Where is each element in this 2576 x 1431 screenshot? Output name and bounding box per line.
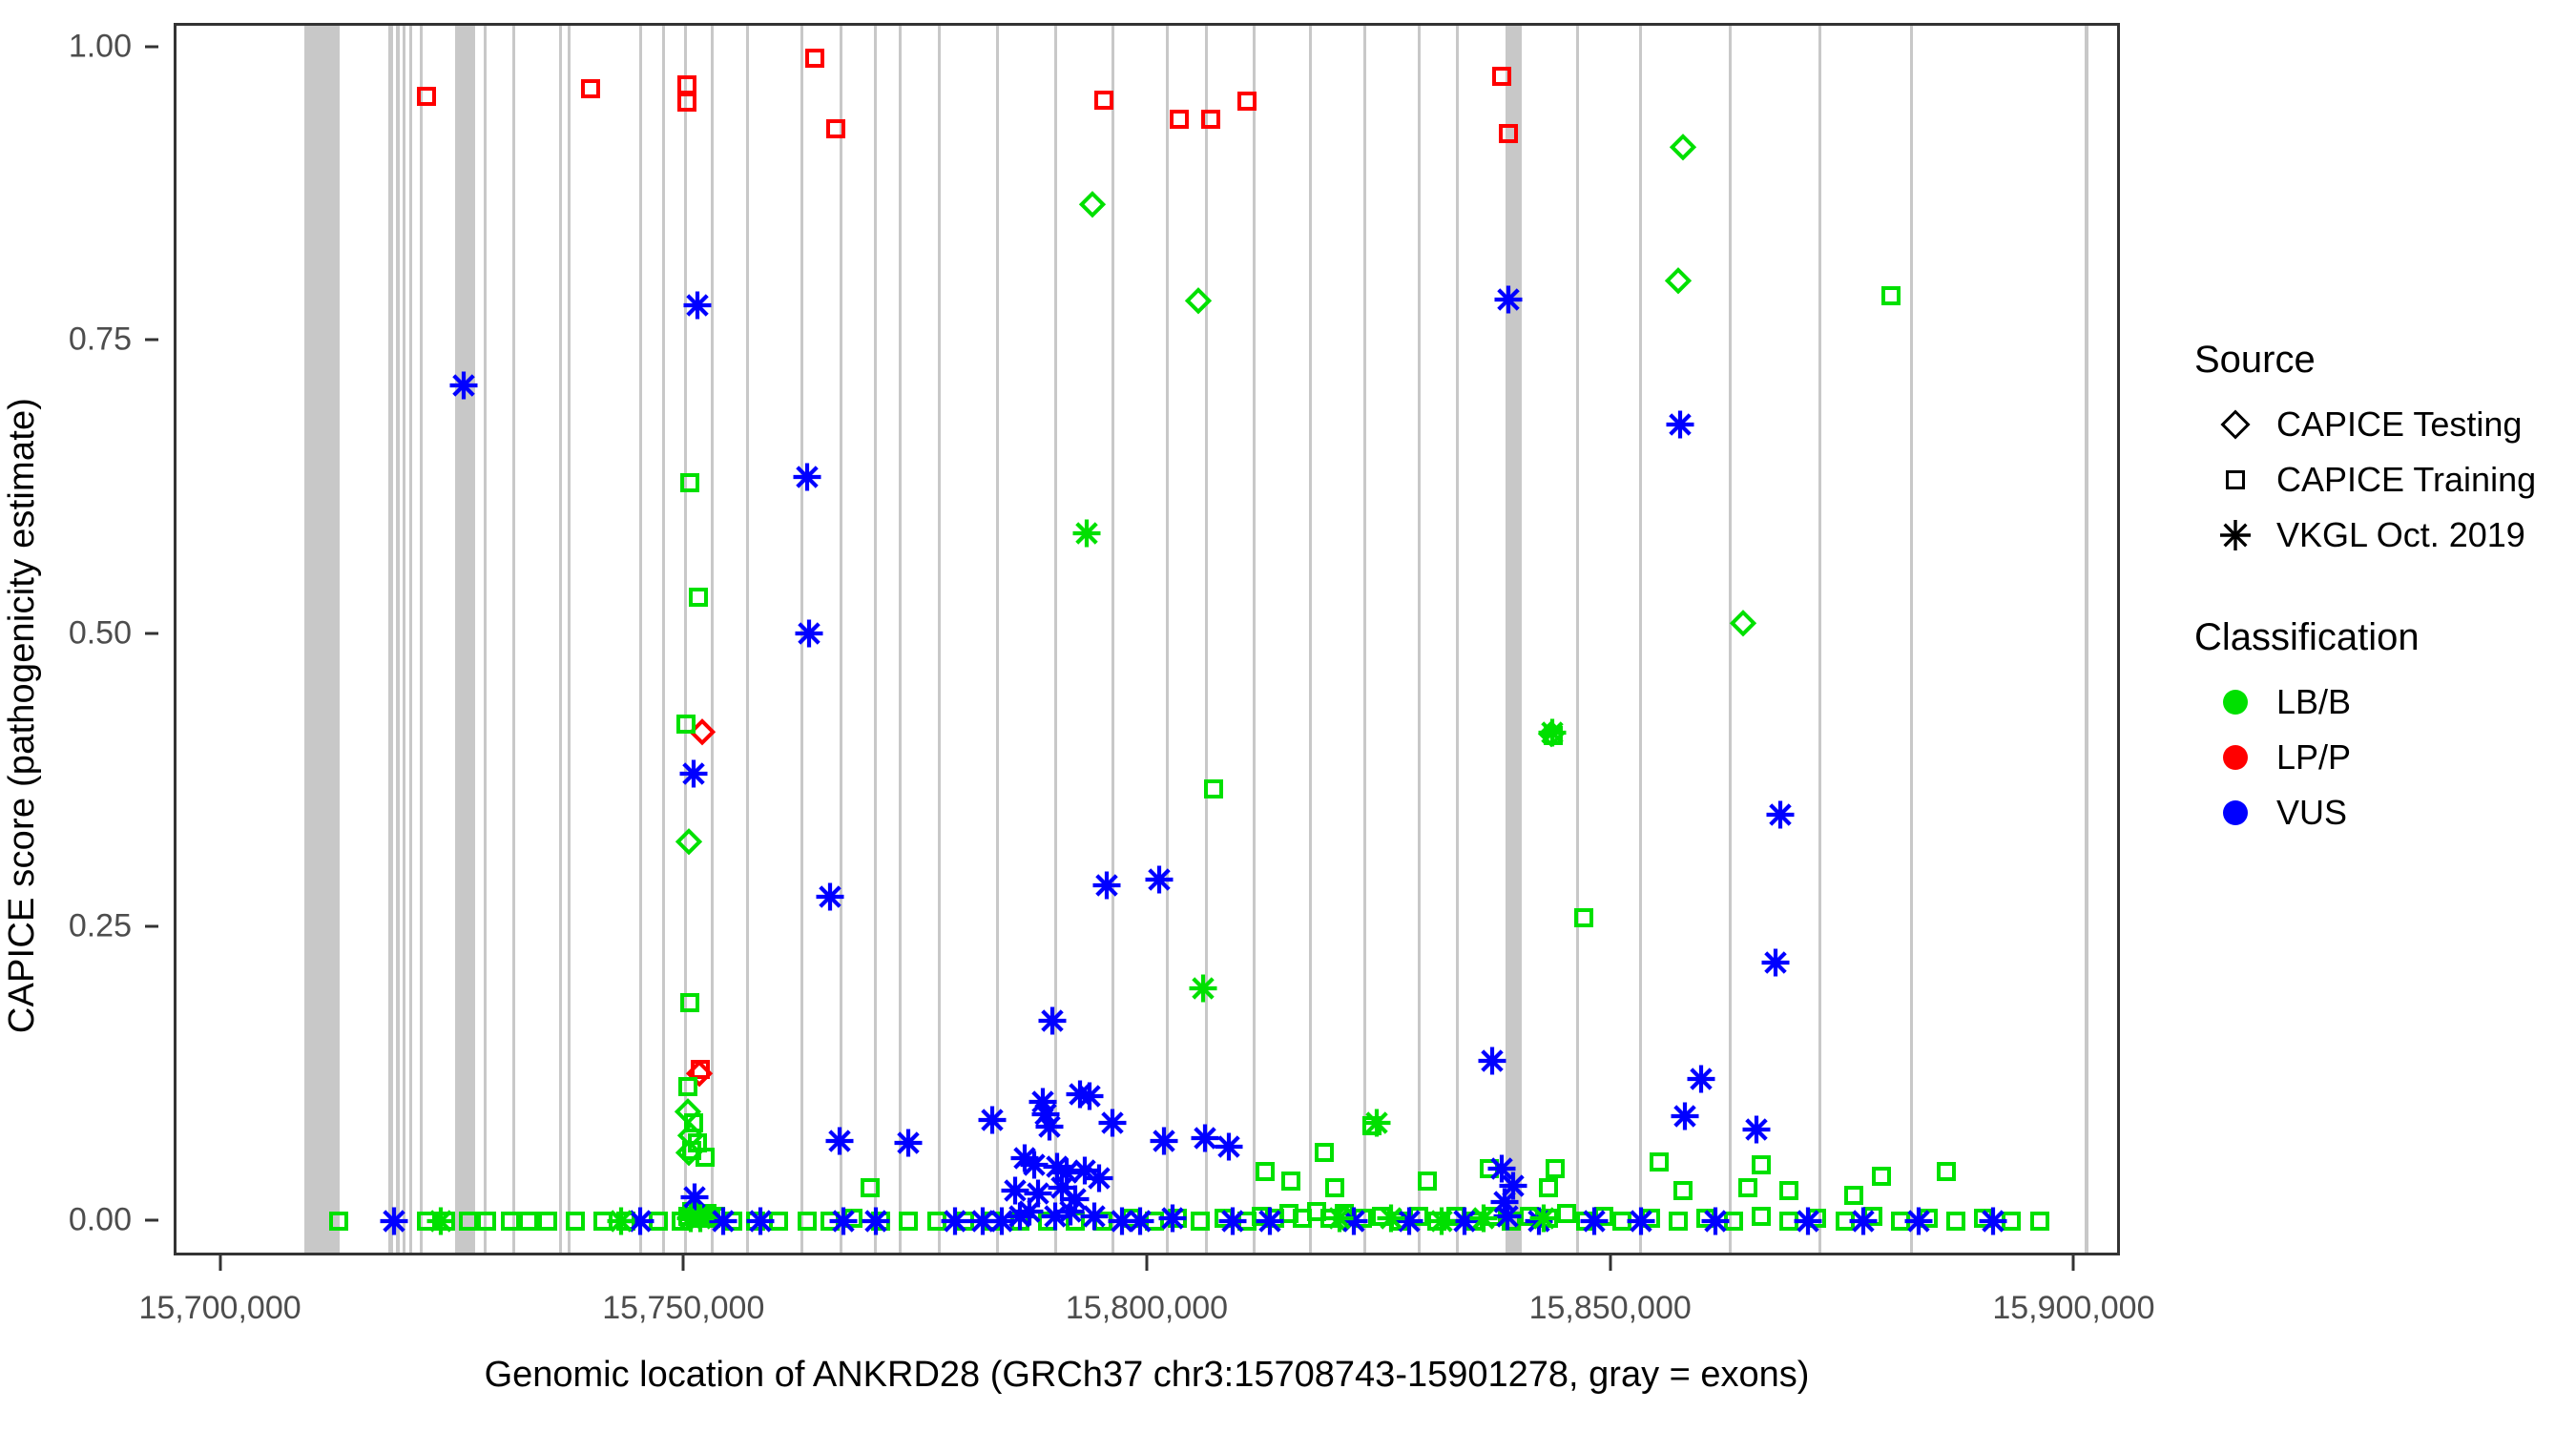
data-point bbox=[794, 619, 823, 649]
data-point bbox=[1793, 1206, 1822, 1235]
legend-item-label: VKGL Oct. 2019 bbox=[2276, 515, 2525, 555]
data-point bbox=[2030, 1212, 2049, 1231]
data-point bbox=[894, 1129, 924, 1158]
exon-band bbox=[1639, 26, 1642, 1253]
data-point bbox=[417, 87, 436, 106]
data-point bbox=[1214, 1132, 1243, 1162]
exon-band bbox=[409, 26, 412, 1253]
data-point bbox=[792, 462, 821, 491]
data-point bbox=[899, 1212, 918, 1231]
data-point bbox=[1493, 284, 1523, 314]
exon-band bbox=[1729, 26, 1732, 1253]
data-point bbox=[1256, 1206, 1285, 1235]
data-point bbox=[1752, 1207, 1771, 1226]
legend-title: Classification bbox=[2194, 616, 2576, 659]
data-point bbox=[1362, 1109, 1392, 1138]
data-point bbox=[682, 290, 712, 320]
data-point bbox=[1539, 1178, 1558, 1197]
legend-item-label: CAPICE Testing bbox=[2276, 404, 2522, 445]
data-point bbox=[677, 75, 696, 94]
data-point bbox=[1574, 908, 1593, 927]
x-tick-mark bbox=[1146, 1255, 1149, 1271]
data-point bbox=[1144, 864, 1174, 894]
legend: SourceCAPICE TestingCAPICE TrainingVKGL … bbox=[2194, 339, 2576, 840]
data-point bbox=[1074, 1082, 1104, 1111]
data-point bbox=[1325, 1204, 1355, 1234]
data-point bbox=[501, 1212, 520, 1231]
data-point bbox=[1626, 1206, 1655, 1235]
legend-item[interactable]: LP/P bbox=[2194, 730, 2576, 785]
data-point bbox=[519, 1212, 538, 1231]
y-tick-label: 0.00 bbox=[69, 1202, 132, 1239]
x-tick-mark bbox=[1609, 1255, 1611, 1271]
data-point bbox=[566, 1212, 585, 1231]
data-point bbox=[1158, 1204, 1188, 1234]
exon-band bbox=[746, 26, 749, 1253]
data-point bbox=[1376, 1204, 1405, 1234]
data-point bbox=[1149, 1126, 1178, 1155]
data-point bbox=[1557, 1204, 1576, 1223]
data-point bbox=[1687, 1064, 1716, 1093]
y-tick-label: 1.00 bbox=[69, 28, 132, 65]
exon-band bbox=[388, 26, 392, 1253]
y-tick-mark bbox=[145, 45, 158, 48]
data-point bbox=[1537, 717, 1567, 747]
exon-band bbox=[1456, 26, 1459, 1253]
data-point bbox=[1468, 1204, 1498, 1234]
plot-panel bbox=[174, 23, 2120, 1255]
data-point bbox=[1098, 1109, 1128, 1138]
legend-item-label: CAPICE Training bbox=[2276, 460, 2536, 500]
data-point bbox=[826, 119, 845, 138]
y-axis-tick-labels: 0.000.250.500.751.00 bbox=[0, 0, 134, 1431]
data-point bbox=[746, 1206, 776, 1235]
data-point bbox=[538, 1212, 557, 1231]
exon-band bbox=[304, 26, 340, 1253]
data-point bbox=[679, 758, 709, 788]
data-point bbox=[1765, 799, 1795, 829]
data-point bbox=[1237, 92, 1257, 111]
exon-band bbox=[1818, 26, 1821, 1253]
exon-band bbox=[1309, 26, 1312, 1253]
legend-item-label: LB/B bbox=[2276, 682, 2351, 722]
legend-item[interactable]: CAPICE Training bbox=[2194, 452, 2576, 508]
data-point bbox=[861, 1178, 880, 1197]
data-point bbox=[689, 588, 708, 607]
data-point bbox=[824, 1126, 854, 1155]
data-point bbox=[1946, 1212, 1965, 1231]
y-tick-label: 0.50 bbox=[69, 614, 132, 652]
data-point bbox=[1673, 1181, 1693, 1200]
exon-band bbox=[711, 26, 714, 1253]
data-point bbox=[329, 1212, 348, 1231]
data-point bbox=[1528, 1204, 1558, 1234]
exon-band bbox=[996, 26, 999, 1253]
dot-icon bbox=[2194, 690, 2276, 715]
exon-band bbox=[1054, 26, 1057, 1253]
exon-band bbox=[938, 26, 941, 1253]
data-point bbox=[1779, 1181, 1798, 1200]
exon-band bbox=[396, 26, 399, 1253]
data-point bbox=[1979, 1206, 2008, 1235]
data-point bbox=[941, 1206, 970, 1235]
data-point bbox=[1315, 1143, 1334, 1162]
data-point bbox=[607, 1206, 636, 1235]
data-point bbox=[1546, 1159, 1565, 1178]
exon-band bbox=[1111, 26, 1114, 1253]
data-point bbox=[1669, 1212, 1688, 1231]
y-tick-mark bbox=[145, 339, 158, 342]
data-point bbox=[1071, 518, 1101, 548]
data-point bbox=[1872, 1167, 1891, 1186]
y-tick-mark bbox=[145, 1219, 158, 1222]
data-point bbox=[1418, 1172, 1437, 1191]
legend-title: Source bbox=[2194, 339, 2576, 382]
exon-band bbox=[874, 26, 877, 1253]
data-point bbox=[1092, 870, 1122, 900]
data-point bbox=[1844, 1186, 1863, 1205]
data-point bbox=[676, 715, 696, 734]
legend-item[interactable]: CAPICE Testing bbox=[2194, 397, 2576, 452]
exon-band bbox=[559, 26, 562, 1253]
data-point bbox=[1580, 1206, 1610, 1235]
exon-band bbox=[1418, 26, 1421, 1253]
exon-band bbox=[484, 26, 487, 1253]
exon-band bbox=[662, 26, 665, 1253]
legend-item-label: VUS bbox=[2276, 793, 2347, 833]
data-point bbox=[1730, 610, 1756, 636]
dot-icon bbox=[2194, 800, 2276, 825]
exon-band bbox=[684, 26, 687, 1253]
data-point bbox=[1670, 134, 1696, 160]
exon-band bbox=[1910, 26, 1913, 1253]
data-point bbox=[1499, 124, 1518, 143]
data-point bbox=[1752, 1155, 1771, 1174]
data-point bbox=[1079, 191, 1106, 218]
legend-item[interactable]: VUS bbox=[2194, 785, 2576, 840]
data-point bbox=[1201, 110, 1220, 129]
data-point bbox=[680, 993, 699, 1012]
data-point bbox=[815, 882, 844, 912]
x-tick-mark bbox=[218, 1255, 221, 1271]
data-point bbox=[1218, 1206, 1248, 1235]
exon-band bbox=[1205, 26, 1208, 1253]
exon-band bbox=[1363, 26, 1366, 1253]
legend-item-label: LP/P bbox=[2276, 737, 2351, 778]
data-point bbox=[798, 1212, 817, 1231]
exon-band bbox=[1253, 26, 1256, 1253]
data-point bbox=[1700, 1206, 1730, 1235]
data-point bbox=[426, 1206, 455, 1235]
x-tick-label: 15,700,000 bbox=[138, 1290, 301, 1327]
data-point bbox=[1281, 1172, 1300, 1191]
legend-spacer bbox=[2194, 563, 2576, 616]
data-point bbox=[1170, 110, 1189, 129]
exon-band bbox=[512, 26, 515, 1253]
data-point bbox=[581, 79, 600, 98]
exon-band bbox=[1166, 26, 1169, 1253]
x-tick-mark bbox=[682, 1255, 685, 1271]
data-point bbox=[1881, 286, 1901, 305]
data-point bbox=[1189, 973, 1218, 1003]
data-point bbox=[1035, 1112, 1065, 1142]
data-point bbox=[1738, 1178, 1757, 1197]
diamond-icon bbox=[2194, 414, 2276, 435]
legend-item[interactable]: VKGL Oct. 2019 bbox=[2194, 508, 2576, 563]
data-point bbox=[1650, 1152, 1669, 1172]
exon-band bbox=[568, 26, 571, 1253]
x-axis-title: Genomic location of ANKRD28 (GRCh37 chr3… bbox=[174, 1355, 2120, 1396]
data-point bbox=[1325, 1178, 1344, 1197]
asterisk-icon bbox=[2194, 519, 2276, 551]
data-point bbox=[1079, 1201, 1109, 1231]
x-tick-label: 15,900,000 bbox=[1992, 1290, 2154, 1327]
data-point bbox=[685, 1204, 715, 1234]
data-point bbox=[829, 1206, 859, 1235]
y-tick-label: 0.75 bbox=[69, 321, 132, 359]
data-point bbox=[380, 1206, 409, 1235]
data-point bbox=[1427, 1206, 1457, 1235]
y-tick-label: 0.25 bbox=[69, 908, 132, 945]
data-point bbox=[1665, 267, 1692, 294]
data-point bbox=[678, 1077, 697, 1096]
square-icon bbox=[2194, 470, 2276, 489]
data-point bbox=[1937, 1162, 1956, 1181]
data-point bbox=[459, 1212, 478, 1231]
data-point bbox=[477, 1212, 496, 1231]
data-point bbox=[1126, 1206, 1155, 1235]
exon-band bbox=[455, 26, 474, 1253]
exon-band bbox=[1576, 26, 1579, 1253]
data-point bbox=[805, 49, 824, 68]
dot-icon bbox=[2194, 745, 2276, 770]
data-point bbox=[1742, 1114, 1772, 1144]
data-point bbox=[1094, 91, 1113, 110]
data-point bbox=[1478, 1047, 1507, 1076]
x-tick-label: 15,850,000 bbox=[1529, 1290, 1692, 1327]
exon-band bbox=[639, 26, 642, 1253]
chart-root: CAPICE score (pathogenicity estimate) 0.… bbox=[0, 0, 2576, 1431]
x-tick-mark bbox=[2072, 1255, 2075, 1271]
data-point bbox=[1665, 410, 1694, 440]
exon-band bbox=[420, 26, 423, 1253]
data-point bbox=[677, 93, 696, 112]
y-tick-mark bbox=[145, 925, 158, 928]
exon-band bbox=[2085, 26, 2088, 1253]
data-point bbox=[449, 370, 479, 400]
x-tick-label: 15,800,000 bbox=[1066, 1290, 1228, 1327]
data-point bbox=[1256, 1162, 1275, 1181]
data-point bbox=[1492, 67, 1511, 86]
data-point bbox=[675, 828, 702, 855]
data-point bbox=[1849, 1206, 1879, 1235]
y-tick-mark bbox=[145, 632, 158, 634]
data-point bbox=[1038, 1006, 1068, 1036]
data-point bbox=[862, 1206, 891, 1235]
exon-band bbox=[840, 26, 842, 1253]
exon-band bbox=[1506, 26, 1522, 1253]
x-tick-label: 15,750,000 bbox=[602, 1290, 764, 1327]
data-point bbox=[680, 473, 699, 492]
exon-band bbox=[899, 26, 902, 1253]
data-point bbox=[1204, 779, 1223, 798]
legend-item[interactable]: LB/B bbox=[2194, 674, 2576, 730]
data-point bbox=[1760, 947, 1790, 977]
data-point bbox=[1671, 1102, 1700, 1131]
exon-band bbox=[403, 26, 405, 1253]
data-point bbox=[977, 1105, 1007, 1134]
data-point bbox=[1191, 1212, 1210, 1231]
data-point bbox=[1904, 1206, 1934, 1235]
